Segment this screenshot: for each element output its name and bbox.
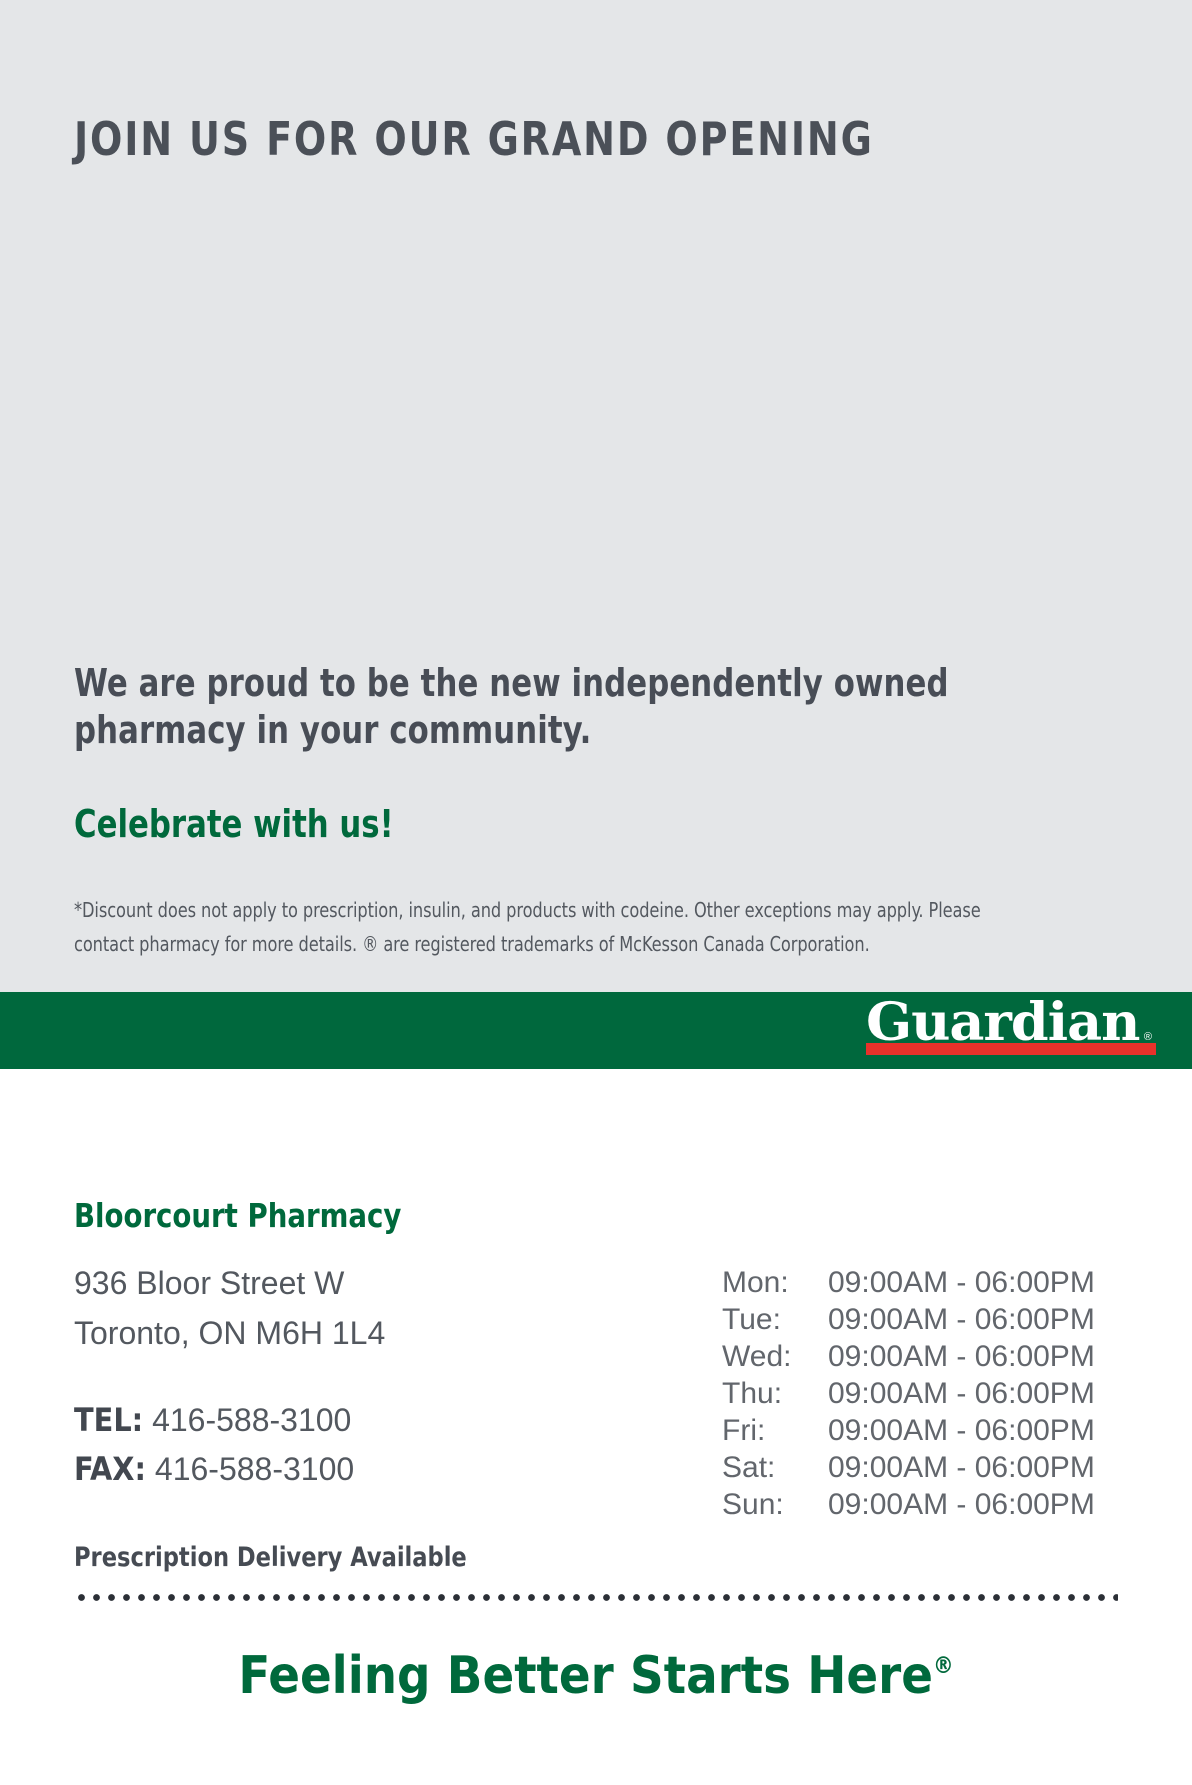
hours-time-value: 09:00AM - 06:00PM [828, 1338, 1095, 1375]
store-name: Bloorcourt Pharmacy [74, 1196, 401, 1235]
store-contact: TEL: 416-588-3100 FAX: 416-588-3100 [74, 1396, 354, 1494]
telephone-value[interactable]: 416-588-3100 [152, 1402, 351, 1438]
hours-time-value: 09:00AM - 06:00PM [828, 1264, 1095, 1301]
hours-time-value: 09:00AM - 06:00PM [828, 1412, 1095, 1449]
brand-banner: Guardian ® [0, 992, 1192, 1069]
guardian-wordmark: Guardian [866, 996, 1168, 1050]
hours-day-label: Sun: [722, 1486, 828, 1523]
hours-time-value: 09:00AM - 06:00PM [828, 1486, 1095, 1523]
celebrate-callout: Celebrate with us! [74, 802, 394, 846]
brand-tagline: Feeling Better Starts Here® [0, 1646, 1192, 1706]
table-row: Wed: 09:00AM - 06:00PM [722, 1338, 1095, 1375]
delivery-note: Prescription Delivery Available [74, 1542, 467, 1573]
fax-value[interactable]: 416-588-3100 [155, 1451, 354, 1487]
table-row: Thu: 09:00AM - 06:00PM [722, 1375, 1095, 1412]
table-row: Mon: 09:00AM - 06:00PM [722, 1264, 1095, 1301]
promo-panel: JOIN US FOR OUR GRAND OPENING We are pro… [0, 0, 1192, 992]
table-row: Sun: 09:00AM - 06:00PM [722, 1486, 1095, 1523]
hours-day-label: Sat: [722, 1449, 828, 1486]
promo-statement-line-2: pharmacy in your community. [74, 707, 983, 754]
hours-day-label: Mon: [722, 1264, 828, 1301]
hours-day-label: Thu: [722, 1375, 828, 1412]
registered-trademark-icon: ® [933, 1653, 954, 1679]
hours-day-label: Tue: [722, 1301, 828, 1338]
telephone-label: TEL: [74, 1401, 143, 1439]
hours-day-label: Wed: [722, 1338, 828, 1375]
guardian-logo: Guardian ® [866, 994, 1156, 1067]
hours-time-value: 09:00AM - 06:00PM [828, 1301, 1095, 1338]
disclaimer-text: *Discount does not apply to prescription… [74, 893, 1016, 961]
fax-label: FAX: [74, 1450, 146, 1488]
table-row: Sat: 09:00AM - 06:00PM [722, 1449, 1095, 1486]
hours-time-value: 09:00AM - 06:00PM [828, 1449, 1095, 1486]
store-address: 936 Bloor Street W Toronto, ON M6H 1L4 [74, 1258, 385, 1358]
promo-statement: We are proud to be the new independently… [74, 660, 983, 754]
fax-row: FAX: 416-588-3100 [74, 1445, 354, 1494]
disclaimer-line-1: *Discount does not apply to prescription… [74, 898, 923, 922]
dotted-divider [74, 1594, 1118, 1601]
telephone-row: TEL: 416-588-3100 [74, 1396, 354, 1445]
tagline-text: Feeling Better Starts Here [238, 1646, 933, 1706]
hours-time-value: 09:00AM - 06:00PM [828, 1375, 1095, 1412]
store-hours-table: Mon: 09:00AM - 06:00PM Tue: 09:00AM - 06… [722, 1264, 1095, 1523]
registered-trademark-icon: ® [1144, 1030, 1152, 1044]
guardian-red-rule: ® [866, 1043, 1156, 1055]
address-line-1: 936 Bloor Street W [74, 1258, 385, 1308]
table-row: Tue: 09:00AM - 06:00PM [722, 1301, 1095, 1338]
table-row: Fri: 09:00AM - 06:00PM [722, 1412, 1095, 1449]
hours-day-label: Fri: [722, 1412, 828, 1449]
page-title: JOIN US FOR OUR GRAND OPENING [74, 112, 874, 166]
promo-statement-line-1: We are proud to be the new independently… [74, 660, 983, 707]
address-line-2: Toronto, ON M6H 1L4 [74, 1308, 385, 1358]
